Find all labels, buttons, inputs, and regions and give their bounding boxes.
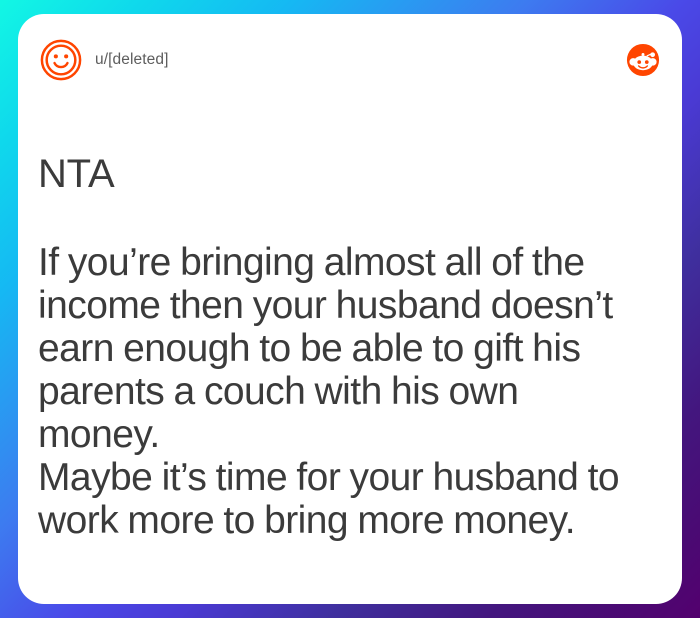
card-body: NTA If you’re bringing almost all of the… [18, 106, 682, 604]
post-card: u/[deleted] NTA If [18, 14, 682, 604]
smiley-face-avatar-icon [40, 39, 82, 81]
brand-logo [626, 43, 660, 77]
card-header: u/[deleted] [18, 14, 682, 106]
verdict-heading: NTA [38, 152, 648, 197]
author-block[interactable]: u/[deleted] [40, 39, 169, 81]
post-body-text: If you’re bringing almost all of the inc… [38, 241, 648, 542]
quote-card-screenshot: u/[deleted] NTA If [0, 0, 700, 618]
author-username: u/[deleted] [95, 51, 169, 69]
avatar[interactable] [40, 39, 82, 81]
reddit-snoo-icon [626, 43, 660, 77]
